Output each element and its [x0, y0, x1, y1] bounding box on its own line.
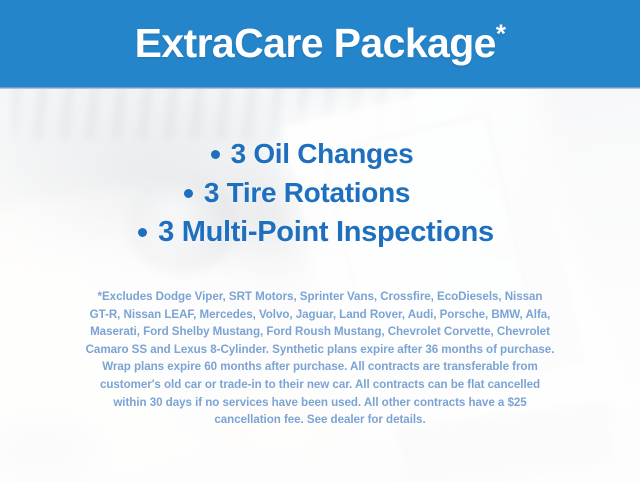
list-item: 3 Tire Rotations	[0, 179, 640, 207]
disclaimer-line: customer's old car or trade-in to their …	[26, 376, 614, 394]
bullet-dot-icon	[138, 228, 147, 237]
page-title-asterisk: *	[496, 18, 506, 48]
list-item: 3 Oil Changes	[0, 140, 640, 168]
disclaimer-line: GT-R, Nissan LEAF, Mercedes, Volvo, Jagu…	[26, 306, 614, 324]
page-title-text: ExtraCare Package	[135, 20, 496, 66]
benefit-label: 3 Oil Changes	[231, 140, 414, 168]
disclaimer-line: Wrap plans expire 60 months after purcha…	[26, 358, 614, 376]
extracare-package-poster: ExtraCare Package* 3 Oil Changes 3 Tire …	[0, 0, 640, 482]
disclaimer-line: Camaro SS and Lexus 8-Cylinder. Syntheti…	[26, 341, 614, 359]
list-item: 3 Multi-Point Inspections	[0, 218, 640, 247]
bullet-dot-icon	[211, 150, 220, 159]
disclaimer-line: *Excludes Dodge Viper, SRT Motors, Sprin…	[26, 288, 614, 306]
disclaimer-line: Maserati, Ford Shelby Mustang, Ford Rous…	[26, 323, 614, 341]
banner-bottom-edge	[0, 86, 640, 89]
disclaimer-line: within 30 days if no services have been …	[26, 394, 614, 412]
disclaimer-line: cancellation fee. See dealer for details…	[26, 411, 614, 429]
benefit-label: 3 Tire Rotations	[204, 179, 410, 207]
benefit-label: 3 Multi-Point Inspections	[158, 218, 494, 247]
page-title: ExtraCare Package*	[135, 23, 506, 64]
benefits-list: 3 Oil Changes 3 Tire Rotations 3 Multi-P…	[0, 140, 640, 247]
bullet-dot-icon	[184, 189, 193, 198]
disclaimer-text: *Excludes Dodge Viper, SRT Motors, Sprin…	[26, 288, 614, 429]
header-banner: ExtraCare Package*	[0, 0, 640, 86]
